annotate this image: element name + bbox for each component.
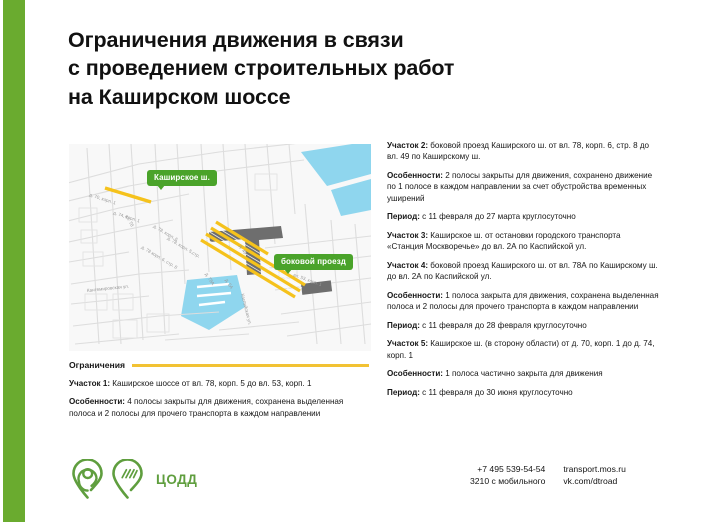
site-link[interactable]: transport.mos.ru (563, 463, 626, 475)
restriction-paragraph: Особенности: 4 полосы закрыты для движен… (69, 396, 369, 419)
left-accent-bar (3, 0, 25, 522)
detail-paragraph: Особенности: 1 полоса закрыта для движен… (387, 290, 659, 313)
detail-label: Период: (387, 212, 420, 221)
vk-link[interactable]: vk.com/dtroad (563, 475, 626, 487)
detail-paragraph: Участок 3: Каширское ш. от остановки гор… (387, 230, 659, 253)
detail-paragraph: Период: с 11 февраля до 30 июня круглосу… (387, 387, 659, 398)
yellow-divider (132, 364, 369, 367)
detail-label: Период: (387, 388, 420, 397)
map-badge-bokovoy[interactable]: боковой проезд (274, 254, 353, 270)
phone-mobile: 3210 с мобильного (470, 475, 545, 487)
restrictions-block: Ограничения Участок 1: Каширское шоссе о… (69, 360, 369, 419)
detail-label: Особенности: (387, 291, 443, 300)
detail-paragraph: Период: с 11 февраля до 27 марта круглос… (387, 211, 659, 222)
restriction-label: Участок 1: (69, 379, 110, 388)
codd-logo[interactable]: ЦОДД (70, 459, 197, 499)
map-figure[interactable]: д. 70, корп. 1 д. 74, корп. 1 вл. 78 д. … (69, 144, 371, 351)
detail-label: Особенности: (387, 369, 443, 378)
detail-text: с 11 февраля до 30 июня круглосуточно (420, 388, 573, 397)
detail-text: с 11 февраля до 27 марта круглосуточно (420, 212, 576, 221)
contact-links: transport.mos.ru vk.com/dtroad (563, 463, 626, 488)
map-svg: д. 70, корп. 1 д. 74, корп. 1 вл. 78 д. … (69, 144, 371, 351)
restriction-label: Особенности: (69, 397, 125, 406)
detail-text: боковой проезд Каширского ш. от вл. 78А … (387, 261, 658, 281)
detail-text: Каширское ш. (в сторону области) от д. 7… (387, 339, 655, 359)
detail-label: Особенности: (387, 171, 443, 180)
logo-wordmark: ЦОДД (156, 472, 197, 487)
detail-label: Участок 5: (387, 339, 428, 348)
map-badge-kashirskoe[interactable]: Каширское ш. (147, 170, 217, 186)
restriction-paragraph: Участок 1: Каширское шоссе от вл. 78, ко… (69, 378, 369, 389)
logo-pin-stripes-icon (110, 459, 146, 499)
detail-paragraph: Участок 4: боковой проезд Каширского ш. … (387, 260, 659, 283)
detail-label: Период: (387, 321, 420, 330)
detail-paragraph: Особенности: 2 полосы закрыты для движен… (387, 170, 659, 204)
detail-paragraph: Особенности: 1 полоса частично закрыта д… (387, 368, 659, 379)
detail-label: Участок 3: (387, 231, 428, 240)
poster-root: Ограничения движения в связи с проведени… (0, 0, 720, 522)
restriction-text: Каширское шоссе от вл. 78, корп. 5 до вл… (110, 379, 311, 388)
logo-pin-spiral-icon (70, 459, 106, 499)
detail-text: 1 полоса частично закрыта для движения (443, 369, 603, 378)
restrictions-heading: Ограничения (69, 360, 125, 370)
contact-phones: +7 495 539-54-54 3210 с мобильного (470, 463, 545, 488)
details-column: Участок 2: боковой проезд Каширского ш. … (387, 140, 659, 398)
detail-label: Участок 2: (387, 141, 428, 150)
page-title: Ограничения движения в связи с проведени… (68, 26, 568, 111)
phone-main: +7 495 539-54-54 (470, 463, 545, 475)
footer-contacts: +7 495 539-54-54 3210 с мобильного trans… (470, 463, 626, 488)
detail-paragraph: Участок 2: боковой проезд Каширского ш. … (387, 140, 659, 163)
detail-paragraph: Период: с 11 февраля до 28 февраля кругл… (387, 320, 659, 331)
detail-label: Участок 4: (387, 261, 428, 270)
restrictions-header: Ограничения (69, 360, 369, 370)
detail-text: с 11 февраля до 28 февраля круглосуточно (420, 321, 587, 330)
detail-paragraph: Участок 5: Каширское ш. (в сторону облас… (387, 338, 659, 361)
